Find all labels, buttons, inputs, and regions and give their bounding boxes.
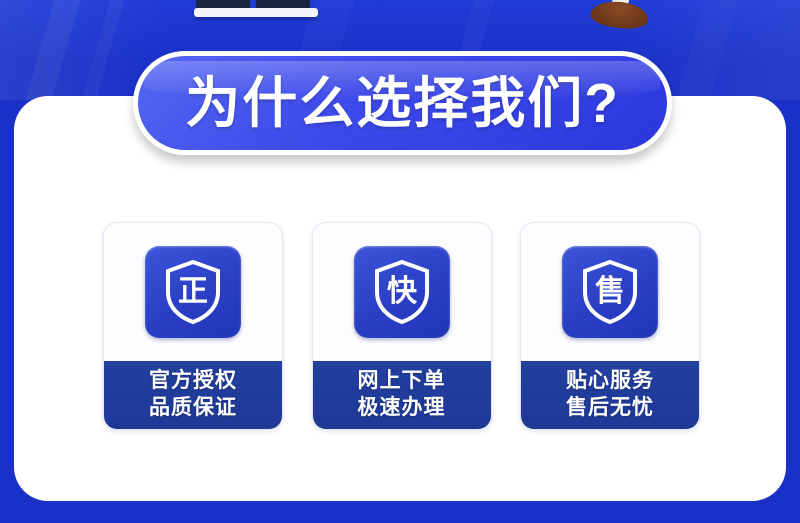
shield-authorized-icon: 正 xyxy=(145,246,241,338)
sneaker-sole xyxy=(194,8,318,17)
shield-outline-icon: 快 xyxy=(371,258,433,326)
floor-streak xyxy=(676,0,739,100)
shield-outline-icon: 正 xyxy=(162,258,224,326)
feature-caption-line2: 极速办理 xyxy=(358,396,446,421)
feature-caption-band: 官方授权 品质保证 xyxy=(104,361,282,429)
feature-caption-line2: 售后无忧 xyxy=(566,396,654,421)
broom-icon xyxy=(583,0,659,35)
feature-caption-band: 网上下单 极速办理 xyxy=(313,361,491,429)
floor-streak xyxy=(26,0,81,100)
feature-caption-line2: 品质保证 xyxy=(149,396,237,421)
feature-caption-line1: 网上下单 xyxy=(358,369,446,394)
feature-icon-area: 快 xyxy=(313,223,491,361)
shield-fast-icon: 快 xyxy=(354,246,450,338)
feature-icon-area: 售 xyxy=(521,223,699,361)
feature-icon-character: 正 xyxy=(178,275,208,308)
feature-icon-area: 正 xyxy=(104,223,282,361)
shield-service-icon: 售 xyxy=(562,246,658,338)
floor-streak xyxy=(82,0,125,100)
feature-icon-character: 快 xyxy=(387,275,418,308)
headline-banner: 为什么选择我们? xyxy=(133,51,672,155)
feature-card[interactable]: 快 网上下单 极速办理 xyxy=(312,222,492,430)
page-title: 为什么选择我们? xyxy=(185,76,620,131)
broom-bristles xyxy=(589,0,649,31)
feature-card[interactable]: 正 官方授权 品质保证 xyxy=(103,222,283,430)
feature-card-list: 正 官方授权 品质保证 快 网上下单 极速办理 xyxy=(103,222,700,430)
feature-caption-line1: 贴心服务 xyxy=(566,369,654,394)
feature-caption-line1: 官方授权 xyxy=(149,369,237,394)
shield-outline-icon: 售 xyxy=(579,258,641,326)
feature-card[interactable]: 售 贴心服务 售后无忧 xyxy=(520,222,700,430)
promo-poster: 为什么选择我们? 正 官方授权 品质保证 xyxy=(0,0,800,523)
feature-caption-band: 贴心服务 售后无忧 xyxy=(521,361,699,429)
sneakers-icon xyxy=(196,0,316,22)
feature-icon-character: 售 xyxy=(595,275,625,308)
